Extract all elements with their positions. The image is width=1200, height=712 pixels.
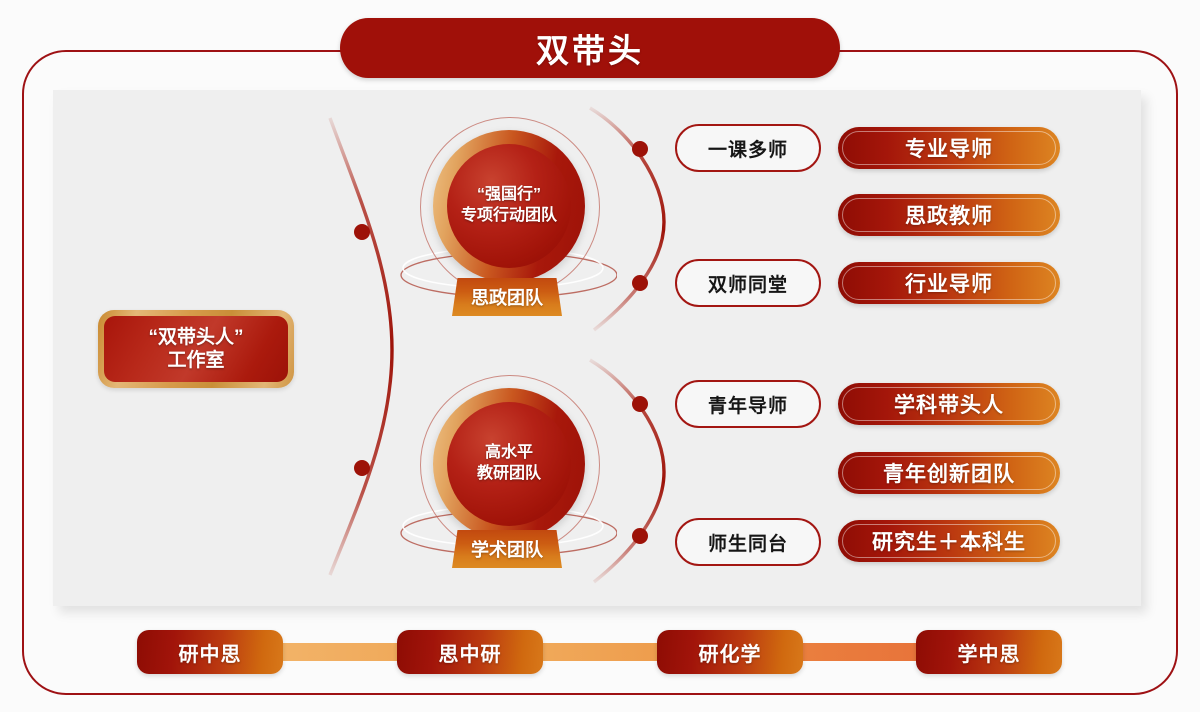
role-pill-2-3-label: 研究生＋本科生 [872, 526, 1026, 556]
role-pill-1-1-label: 专业导师 [905, 133, 993, 163]
workshop-box-inner: “双带头人” 工作室 [104, 316, 288, 382]
branch-1-badge-label: 思政团队 [471, 284, 543, 310]
role-pill-2-2-inner: 青年创新团队 [842, 456, 1056, 490]
branch-1-circle-label: “强国行” 专项行动团队 [447, 144, 571, 268]
branch-1-circle-line-1: “强国行” [477, 185, 541, 206]
workshop-box[interactable]: “双带头人” 工作室 [98, 310, 294, 388]
branch-1-circle-line-2: 专项行动团队 [461, 206, 557, 227]
title-banner: 双带头 [340, 18, 840, 78]
flow-connector-3 [797, 643, 929, 661]
role-pill-1-2-inner: 思政教师 [842, 198, 1056, 232]
branch-2-circle[interactable]: 高水平 教研团队 [433, 388, 585, 540]
flow-step-4[interactable]: 学中思 [916, 630, 1062, 674]
flow-step-1[interactable]: 研中思 [137, 630, 283, 674]
mode-pill-1-1-label: 一课多师 [708, 135, 788, 162]
role-pill-1-2[interactable]: 思政教师 [838, 194, 1060, 236]
role-pill-2-1-inner: 学科带头人 [842, 387, 1056, 421]
flow-step-4-label: 学中思 [958, 638, 1021, 667]
flow-step-3-label: 研化学 [699, 638, 762, 667]
page-title: 双带头 [536, 24, 644, 72]
flow-step-3[interactable]: 研化学 [657, 630, 803, 674]
role-pill-1-2-label: 思政教师 [905, 200, 993, 230]
branch-2-circle-label: 高水平 教研团队 [447, 402, 571, 526]
workshop-line-1: “双带头人” [148, 326, 243, 349]
branch-1-circle[interactable]: “强国行” 专项行动团队 [433, 130, 585, 282]
flow-step-1-label: 研中思 [179, 638, 242, 667]
role-pill-2-2[interactable]: 青年创新团队 [838, 452, 1060, 494]
branch-2-circle-line-2: 教研团队 [477, 464, 541, 485]
flow-connector-2 [537, 643, 669, 661]
role-pill-2-1[interactable]: 学科带头人 [838, 383, 1060, 425]
role-pill-2-1-label: 学科带头人 [894, 389, 1004, 419]
mode-pill-1-2[interactable]: 双师同堂 [675, 259, 821, 307]
role-pill-1-3[interactable]: 行业导师 [838, 262, 1060, 304]
role-pill-2-3-inner: 研究生＋本科生 [842, 524, 1056, 558]
role-pill-2-2-label: 青年创新团队 [883, 458, 1015, 488]
mode-pill-2-2-label: 师生同台 [708, 529, 788, 556]
branch-2-circle-line-1: 高水平 [485, 443, 533, 464]
flow-connector-1 [277, 643, 409, 661]
role-pill-1-3-label: 行业导师 [905, 268, 993, 298]
workshop-line-2: 工作室 [167, 349, 224, 372]
mode-pill-2-2[interactable]: 师生同台 [675, 518, 821, 566]
flow-step-2[interactable]: 思中研 [397, 630, 543, 674]
flow-bar: 研中思 思中研 研化学 学中思 [137, 630, 1062, 674]
branch-2-badge-label: 学术团队 [471, 536, 543, 562]
branch-2-badge: 学术团队 [452, 530, 562, 568]
mode-pill-1-1[interactable]: 一课多师 [675, 124, 821, 172]
role-pill-1-3-inner: 行业导师 [842, 266, 1056, 300]
role-pill-1-1-inner: 专业导师 [842, 131, 1056, 165]
role-pill-2-3[interactable]: 研究生＋本科生 [838, 520, 1060, 562]
flow-step-2-label: 思中研 [439, 638, 502, 667]
infographic-stage: 双带头 [0, 0, 1200, 712]
mode-pill-2-1[interactable]: 青年导师 [675, 380, 821, 428]
mode-pill-1-2-label: 双师同堂 [708, 270, 788, 297]
role-pill-1-1[interactable]: 专业导师 [838, 127, 1060, 169]
branch-1-badge: 思政团队 [452, 278, 562, 316]
mode-pill-2-1-label: 青年导师 [708, 391, 788, 418]
